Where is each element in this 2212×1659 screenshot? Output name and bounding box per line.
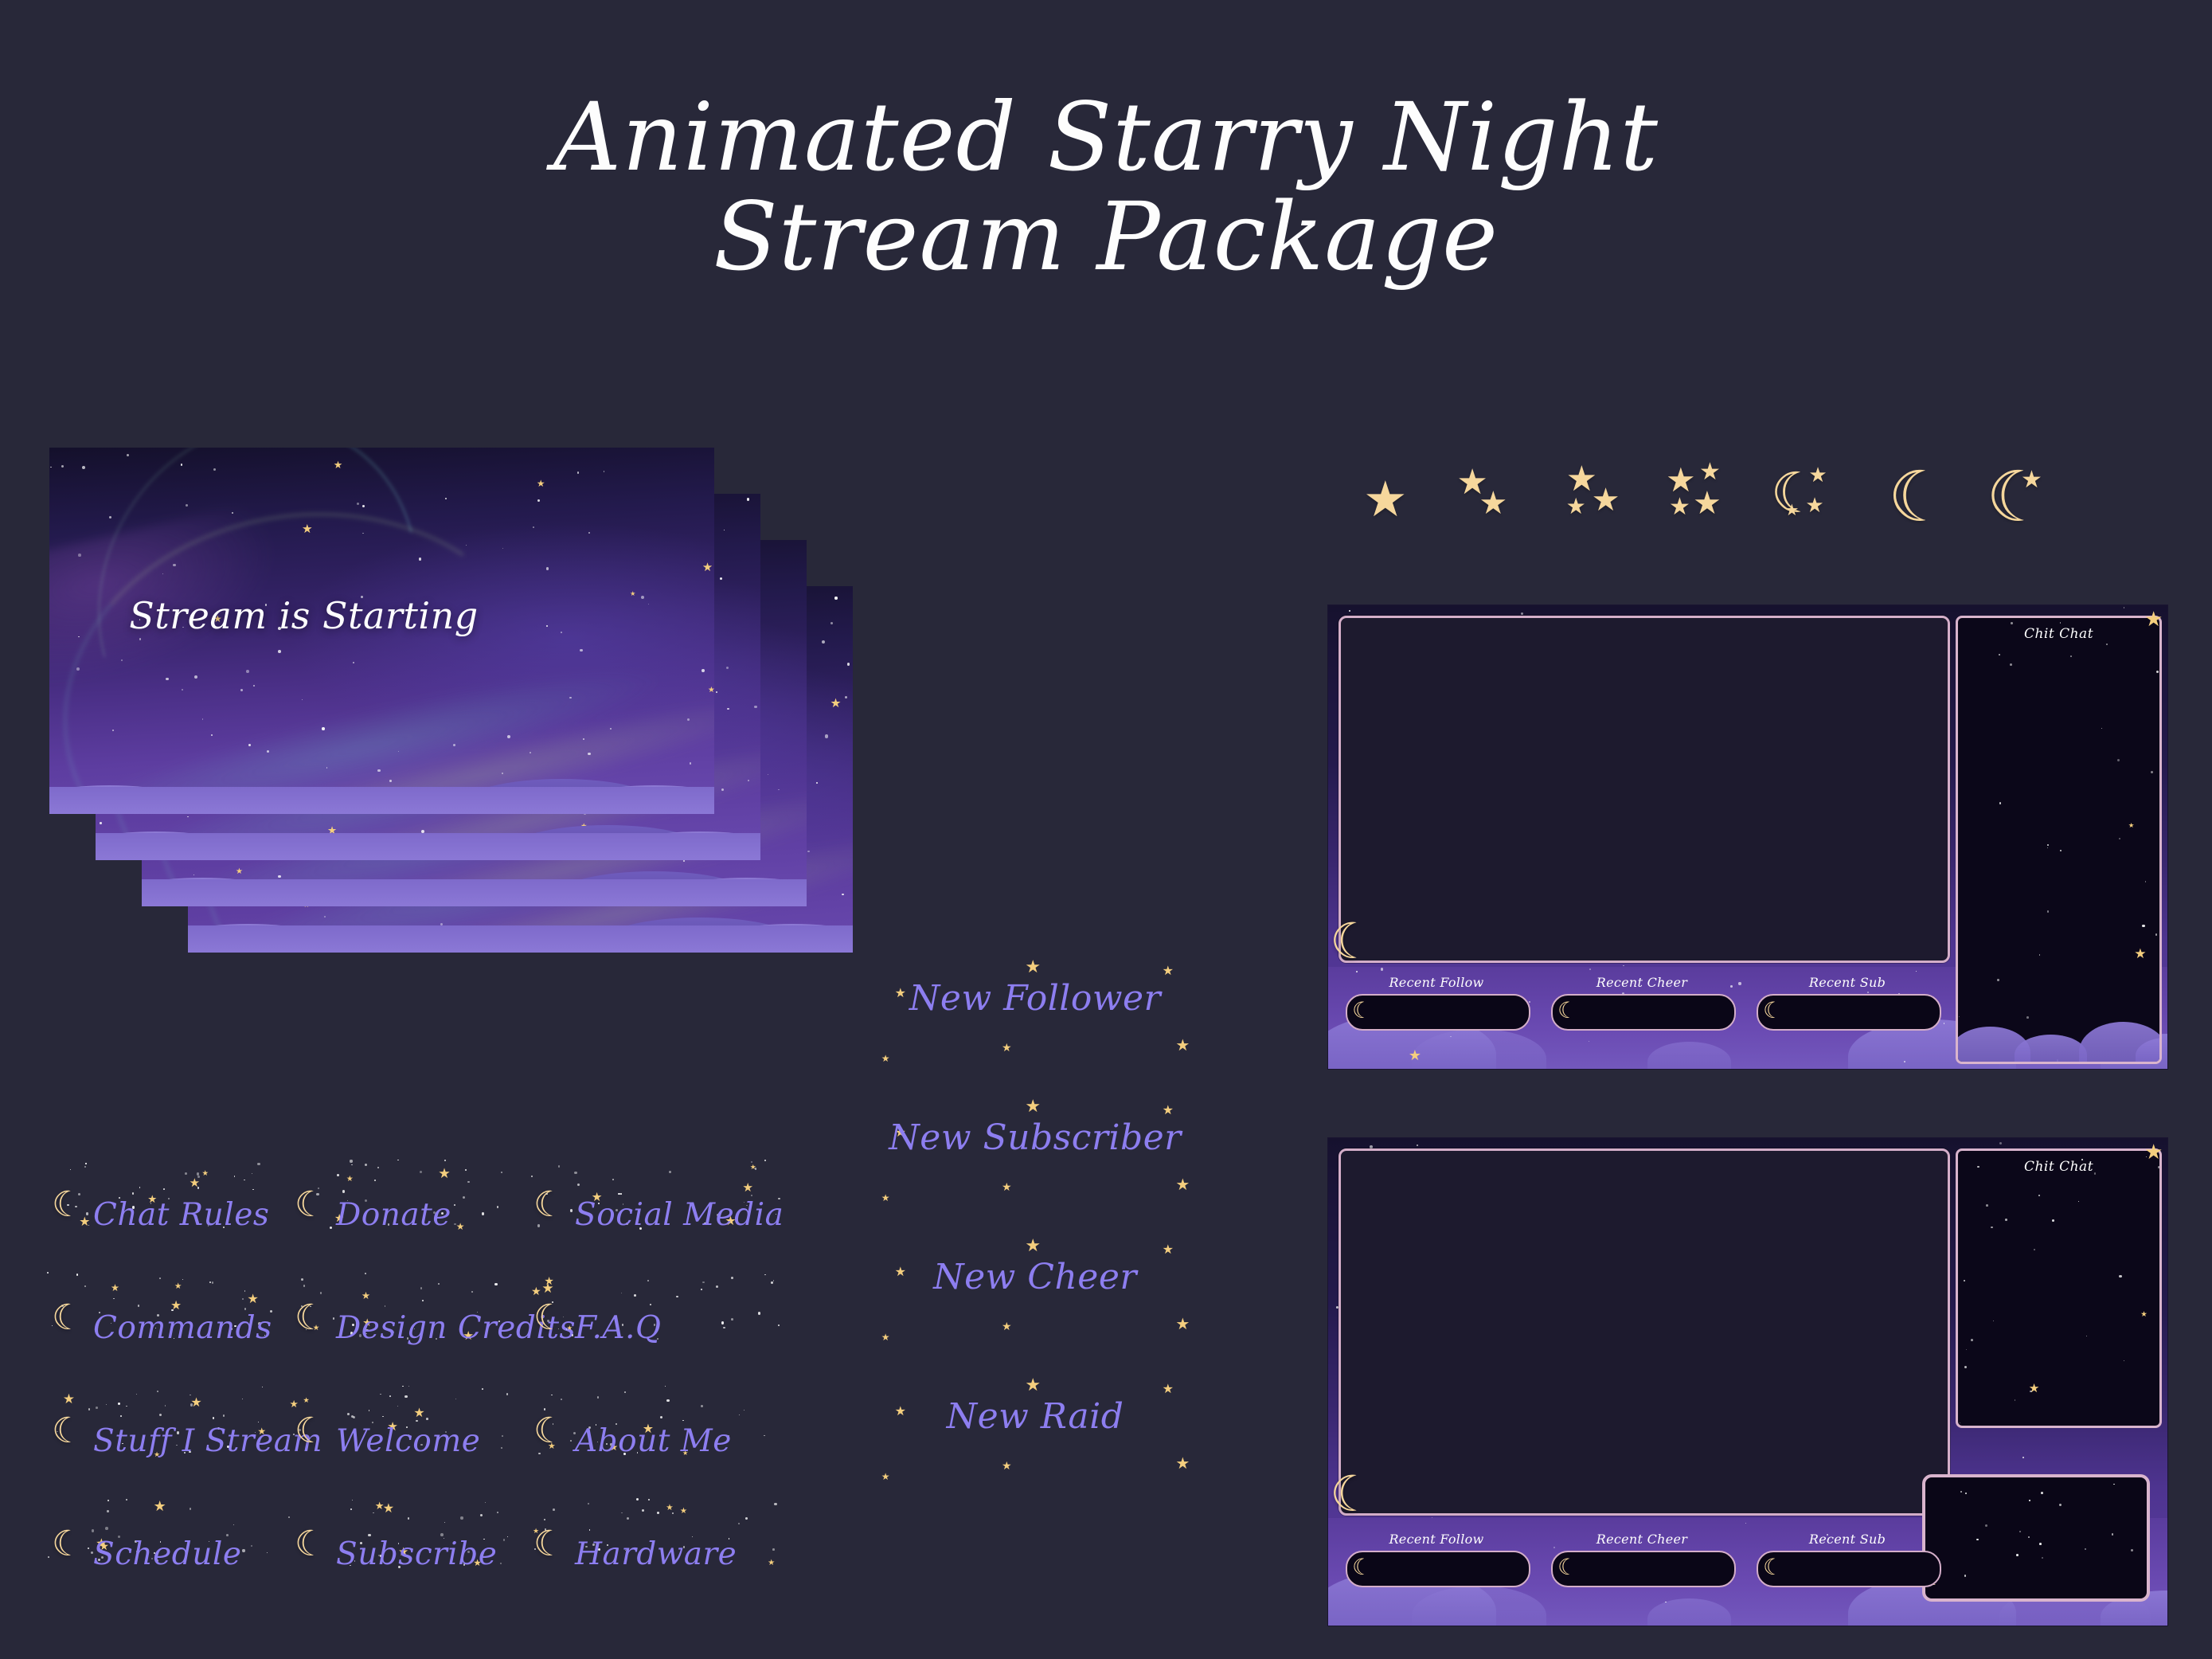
info-slot-label: Recent Follow <box>1346 975 1527 990</box>
star-dot <box>642 1509 645 1512</box>
star-dot <box>2010 663 2012 666</box>
star-dot <box>85 1163 86 1164</box>
star-dot <box>70 1169 71 1170</box>
moon-icon: ☾ <box>295 1527 326 1562</box>
info-slot-pill[interactable]: ☾ <box>1346 994 1530 1031</box>
star-dot <box>494 1283 497 1285</box>
star-dot <box>621 1512 623 1514</box>
star-dot <box>502 1435 503 1437</box>
chat-panel-label: Chit Chat <box>1958 1159 2159 1175</box>
star-dot <box>721 1321 725 1324</box>
star-dot <box>454 1223 456 1226</box>
star-dot <box>2038 1195 2040 1196</box>
alert-new-subscriber[interactable]: ★★★★★★New Subscriber <box>868 1095 1202 1234</box>
star-dot <box>676 1296 678 1297</box>
gold-star: ★ <box>383 1502 394 1515</box>
star-dot <box>234 1176 236 1177</box>
star-dot <box>163 1188 165 1190</box>
gold-star: ★ <box>750 1164 756 1172</box>
panel-label-text: Welcome <box>336 1423 480 1459</box>
star-dot <box>588 1503 589 1504</box>
star-dot <box>212 1281 214 1284</box>
moon-icon: ☾ <box>52 1301 83 1336</box>
star-dot <box>2145 881 2147 882</box>
star-dot <box>701 1405 703 1407</box>
moon-stars-emote[interactable]: ☾★★★ <box>1770 460 1850 536</box>
alert-label: New Cheer <box>868 1257 1202 1297</box>
star-dot <box>342 1190 345 1192</box>
star-dot <box>404 1395 407 1398</box>
star-dot <box>454 1204 455 1206</box>
star-dot <box>666 1399 669 1402</box>
panel-row: ★★★★☾Commands★★★★☾Design Credits★★★★☾F.A… <box>44 1272 808 1385</box>
star-dot <box>351 1164 353 1166</box>
star-dot <box>2015 1399 2015 1400</box>
panel-label-commands[interactable]: ★★★★☾Commands <box>44 1272 287 1385</box>
gold-star: ★ <box>438 1168 451 1181</box>
star-dot <box>132 1192 135 1195</box>
star-dot <box>333 1317 335 1320</box>
chat-corner-star: ★ <box>2144 609 2163 630</box>
info-slot-label: Recent Sub <box>1757 1532 1938 1547</box>
star-dot <box>665 1386 666 1387</box>
gold-star: ★ <box>567 1324 573 1331</box>
main-capture-area[interactable] <box>1339 616 1950 963</box>
star-dot <box>352 1500 353 1501</box>
star-dot <box>731 1277 733 1279</box>
star-dot <box>758 1312 761 1315</box>
star-dot <box>455 1399 457 1400</box>
chat-starfield: ★★ <box>1958 1151 2159 1426</box>
star-dot <box>538 1453 540 1454</box>
star-dot <box>303 1285 305 1286</box>
alert-star: ★ <box>881 1193 890 1203</box>
star-dot <box>126 1406 127 1407</box>
star-glyph: ★ <box>1566 495 1586 518</box>
gold-star: ★ <box>680 1508 687 1516</box>
gold-star: ★ <box>742 1182 753 1194</box>
star-dot <box>96 1407 98 1409</box>
moon-icon: ☾ <box>52 1188 83 1223</box>
star-dot <box>570 1209 573 1211</box>
panel-label-text: Chat Rules <box>93 1197 269 1233</box>
gold-star: ★ <box>768 1559 775 1567</box>
alert-star: ★ <box>1002 1461 1012 1472</box>
panel-label-hardware[interactable]: ★★★★☾Hardware <box>526 1498 796 1611</box>
panel-label-design-credits[interactable]: ★★★★☾Design Credits <box>287 1272 526 1385</box>
star-dot <box>744 1410 744 1411</box>
star-dot <box>485 1502 486 1503</box>
star-dot <box>380 1394 381 1395</box>
alert-star: ★ <box>881 1054 890 1063</box>
star-dot <box>350 1160 352 1162</box>
info-slot-label: Recent Cheer <box>1551 975 1733 990</box>
cloud-layer <box>49 645 714 814</box>
star-dot <box>138 1305 140 1307</box>
info-slot[interactable]: Recent Follow☾ <box>1346 975 1527 1031</box>
star-dot <box>723 1327 725 1329</box>
star-dot <box>574 1172 577 1175</box>
star-dot <box>553 1508 555 1511</box>
star-dot <box>764 1160 766 1161</box>
star-dot <box>772 1548 775 1551</box>
star-dot <box>731 1318 733 1321</box>
star-dot <box>2034 1249 2035 1250</box>
star-dot <box>257 1163 260 1165</box>
star-dot <box>369 1410 370 1411</box>
star-dot <box>213 1417 214 1418</box>
star-dot <box>2047 847 2048 848</box>
star-dot <box>422 1300 424 1301</box>
gold-star: ★ <box>346 1176 354 1184</box>
panel-row: ★★★★☾Stuff I Stream★★★★☾Welcome★★★★☾Abou… <box>44 1385 808 1498</box>
star-dot <box>2052 1219 2054 1222</box>
star-dot <box>497 1512 498 1513</box>
star-dot <box>251 1545 252 1547</box>
star-emote-single[interactable]: ★ <box>1346 460 1425 536</box>
star-dot <box>244 1180 244 1180</box>
star-dot <box>190 1395 190 1395</box>
star-dot <box>771 1281 772 1283</box>
star-dot <box>288 1516 290 1518</box>
star-dot <box>2039 954 2040 955</box>
moon-star-emote[interactable]: ☾★ <box>1983 460 2062 536</box>
info-slot-moon-icon: ☾ <box>1557 1556 1577 1579</box>
star-dot <box>506 1393 509 1395</box>
alert-star: ★ <box>1002 1182 1012 1193</box>
gold-star: ★ <box>111 1283 119 1293</box>
moon-icon: ☾ <box>52 1527 83 1562</box>
panel-label-welcome[interactable]: ★★★★☾Welcome <box>287 1385 526 1498</box>
panel-label-donate[interactable]: ★★★★☾Donate <box>287 1159 526 1272</box>
star-dot <box>755 1168 756 1169</box>
info-slot-pill[interactable]: ☾ <box>1757 994 1941 1031</box>
star-dot <box>408 1386 409 1387</box>
star-dot <box>572 1334 574 1336</box>
star-dot <box>2119 838 2120 839</box>
info-slot[interactable]: Recent Sub☾ <box>1757 975 1938 1031</box>
star-dot <box>397 1406 398 1407</box>
info-slot[interactable]: Recent Follow☾ <box>1346 1532 1527 1587</box>
panel-label-f-a-q[interactable]: ★★★★☾F.A.Q <box>526 1272 796 1385</box>
info-slot-moon-icon: ☾ <box>1763 1556 1783 1579</box>
star-dot <box>113 1298 115 1300</box>
star-dot <box>165 1405 166 1406</box>
alert-starfield: ★★★★★★ <box>868 956 1202 1095</box>
star-dot <box>2047 844 2049 846</box>
star-dot <box>577 1184 580 1186</box>
star-dot <box>1999 654 2000 655</box>
info-slot-moon-icon: ☾ <box>1763 1000 1783 1022</box>
gold-star: ★ <box>290 1399 299 1410</box>
star-dot <box>377 1167 379 1168</box>
alert-star: ★ <box>1025 959 1041 976</box>
info-slot-pill[interactable]: ☾ <box>1757 1551 1941 1587</box>
star-dot <box>2047 910 2050 913</box>
star-dot <box>86 1212 88 1215</box>
moon-icon: ☾ <box>533 1301 565 1336</box>
star-dot <box>84 1285 87 1288</box>
alert-new-cheer[interactable]: ★★★★★★New Cheer <box>868 1234 1202 1374</box>
star-glyph: ★ <box>1808 465 1827 486</box>
starting-screen-stack: ★★★★★★★★★★★★★★★★★★★★★★★★★★★★★★★★Stream i… <box>49 448 862 1093</box>
star-dot <box>389 1395 391 1397</box>
star-dot <box>438 1283 440 1285</box>
star-dot <box>507 1536 508 1537</box>
star-dot <box>1999 1142 2002 1144</box>
star-dot <box>420 1171 422 1173</box>
star-dot <box>88 1547 89 1549</box>
star-dot <box>2106 644 2107 644</box>
star-dot <box>682 1420 683 1421</box>
star-dot <box>2142 925 2144 927</box>
star-dot <box>2070 655 2072 657</box>
star-dot <box>426 1418 428 1420</box>
star-dot <box>739 1414 740 1415</box>
star-dot <box>1999 802 2001 804</box>
star-dot <box>190 1508 191 1509</box>
star-dot <box>627 1517 629 1520</box>
panel-row: ★★★★☾Schedule★★★★☾Subscribe★★★★☾Hardware <box>44 1498 808 1611</box>
alert-star: ★ <box>1175 1455 1190 1471</box>
star-emote-triple[interactable]: ★★★ <box>1558 460 1638 536</box>
info-slot-pill[interactable]: ☾ <box>1551 994 1736 1031</box>
alert-star: ★ <box>1163 1383 1174 1395</box>
star-dot <box>669 1171 671 1173</box>
star-dot <box>444 1522 445 1523</box>
info-slot-pill[interactable]: ☾ <box>1346 1551 1530 1587</box>
panel-label-subscribe[interactable]: ★★★★☾Subscribe <box>287 1498 526 1611</box>
star-dot <box>2060 622 2062 624</box>
gold-star: ★ <box>174 1282 182 1290</box>
moon-icon: ☾ <box>295 1414 326 1449</box>
star-dot <box>561 1399 562 1400</box>
star-dot <box>242 1298 244 1300</box>
alert-starfield: ★★★★★★ <box>868 1095 1202 1234</box>
star-dot <box>159 1278 161 1279</box>
star-dot <box>657 1512 659 1514</box>
panel-label-text: F.A.Q <box>575 1310 661 1346</box>
alert-star: ★ <box>1025 1238 1041 1255</box>
star-glyph: ★ <box>1699 460 1721 484</box>
cloud-base <box>142 879 807 906</box>
star-dot <box>2030 1391 2032 1393</box>
star-dot <box>126 1499 127 1501</box>
star-dot <box>301 1278 303 1281</box>
star-dot <box>353 1416 355 1418</box>
panel-label-text: Social Media <box>575 1197 784 1233</box>
panel-label-stuff-i-stream[interactable]: ★★★★☾Stuff I Stream <box>44 1385 287 1498</box>
panel-label-chat-rules[interactable]: ★★★★☾Chat Rules <box>44 1159 287 1272</box>
star-dot <box>774 1503 776 1505</box>
star-dot <box>397 1160 398 1160</box>
info-slot-moon-icon: ☾ <box>1557 1000 1577 1022</box>
alert-new-follower[interactable]: ★★★★★★New Follower <box>868 956 1202 1095</box>
alert-star: ★ <box>1175 1037 1190 1053</box>
star-dot <box>2059 1504 2062 1506</box>
star-dot <box>120 1415 122 1417</box>
star-dot <box>1985 1524 1987 1527</box>
alert-star: ★ <box>1025 1377 1041 1395</box>
cloud-base <box>49 787 714 814</box>
star-dot <box>716 1285 718 1288</box>
star-dot <box>1991 1227 1992 1228</box>
alert-star: ★ <box>1163 1104 1174 1117</box>
star-dot <box>1960 1422 1960 1423</box>
panel-label-text: Commands <box>93 1310 272 1346</box>
alert-label: New Follower <box>868 978 1202 1019</box>
gold-star: ★ <box>190 1396 201 1409</box>
star-dot <box>2005 1219 2007 1221</box>
stream-starting-title: Stream is Starting <box>129 594 479 637</box>
info-slots: Recent Follow☾Recent Cheer☾Recent Sub☾ <box>1328 1532 2167 1611</box>
star-dot <box>2156 671 2159 673</box>
star-dot <box>597 1396 599 1398</box>
star-glyph: ★ <box>1693 487 1722 519</box>
star-dot <box>136 1394 137 1395</box>
star-dot <box>1971 1339 1973 1341</box>
star-dot <box>337 1174 339 1176</box>
gold-star: ★ <box>541 1282 553 1296</box>
chat-corner-star: ★ <box>2144 1142 2163 1163</box>
star-dot <box>373 1512 374 1514</box>
info-slot-pill[interactable]: ☾ <box>1551 1551 1736 1587</box>
star-dot <box>650 1304 651 1305</box>
star-emote-double[interactable]: ★★ <box>1452 460 1531 536</box>
star-dot <box>589 1529 591 1531</box>
chat-panel[interactable]: ★★Chit Chat <box>1956 1148 2162 1428</box>
star-dot <box>365 1164 367 1166</box>
star-dot <box>2060 850 2062 852</box>
star-dot <box>267 1552 268 1553</box>
alert-new-raid[interactable]: ★★★★★★New Raid <box>868 1374 1202 1513</box>
star-dot <box>2155 933 2158 936</box>
star-dot <box>551 1395 553 1396</box>
star-dot <box>1986 1204 1988 1207</box>
star-dot <box>2029 1500 2030 1501</box>
star-dot <box>185 1172 187 1175</box>
star-dot <box>648 1499 650 1501</box>
overlay-with-webcam: ★★★★★★☾★★Chit Chat★☾Recent Follow☾Recent… <box>1327 1137 2168 1626</box>
poster-root: Animated Starry Night Stream Package ★★★… <box>0 0 2212 1659</box>
star-dot <box>647 1280 649 1281</box>
star-glyph: ★ <box>1592 484 1620 516</box>
gold-star: ★ <box>375 1501 385 1512</box>
star-dot <box>105 1527 108 1530</box>
info-slot[interactable]: Recent Cheer☾ <box>1551 1532 1733 1587</box>
star-dot <box>107 1500 110 1502</box>
alert-star: ★ <box>1175 1176 1190 1192</box>
star-dot <box>159 1414 162 1416</box>
star-dot <box>764 1435 764 1436</box>
alert-starfield: ★★★★★★ <box>868 1234 1202 1374</box>
star-dot <box>624 1391 626 1393</box>
star-dot <box>2113 1484 2114 1485</box>
star-dot <box>501 1172 502 1173</box>
star-dot <box>1964 1280 1965 1281</box>
star-dot <box>465 1169 467 1171</box>
star-dot <box>242 1399 243 1399</box>
alert-star: ★ <box>1163 964 1174 977</box>
moon-icon: ☾ <box>295 1188 326 1223</box>
panel-label-text: Schedule <box>93 1536 241 1572</box>
star-dot <box>1993 1321 1994 1321</box>
gold-star: ★ <box>413 1407 424 1419</box>
panel-label-schedule[interactable]: ★★★★☾Schedule <box>44 1498 287 1611</box>
alert-star: ★ <box>1175 1316 1190 1332</box>
star-dot <box>2041 1492 2043 1494</box>
panel-label-social-media[interactable]: ★★★★☾Social Media <box>526 1159 796 1272</box>
star-dot <box>233 1524 234 1525</box>
panel-label-grid: ★★★★☾Chat Rules★★★★☾Donate★★★★☾Social Me… <box>44 1159 808 1611</box>
gold-star: ★ <box>2134 948 2146 961</box>
star-dot <box>84 1166 86 1168</box>
panel-label-about-me[interactable]: ★★★★☾About Me <box>526 1385 796 1498</box>
panel-label-text: Subscribe <box>336 1536 497 1572</box>
star-dot <box>2124 607 2125 608</box>
moon-icon: ☾ <box>533 1414 565 1449</box>
star-dot <box>660 1416 663 1419</box>
info-slot[interactable]: Recent Sub☾ <box>1757 1532 1938 1587</box>
star-dot <box>1417 1144 1418 1146</box>
alert-star: ★ <box>1163 1243 1174 1256</box>
panel-row: ★★★★☾Chat Rules★★★★☾Donate★★★★☾Social Me… <box>44 1159 808 1272</box>
star-dot <box>118 1403 119 1404</box>
star-dot <box>558 1165 560 1167</box>
corner-moon-icon: ☾ <box>1330 1469 1374 1519</box>
star-dot <box>2086 1336 2087 1336</box>
star-dot <box>2101 728 2102 729</box>
star-dot <box>2151 771 2153 773</box>
info-slot[interactable]: Recent Cheer☾ <box>1551 975 1733 1031</box>
star-dot <box>467 1181 470 1184</box>
crescent-moon-emote[interactable]: ☾ <box>1877 460 1956 536</box>
star-dot <box>503 1539 505 1540</box>
star-dot <box>223 1414 225 1417</box>
star-dot <box>751 1161 752 1163</box>
alert-label: New Raid <box>868 1396 1202 1437</box>
star-dot <box>402 1386 403 1387</box>
star-dot <box>262 1387 263 1387</box>
star-dot <box>500 1563 502 1564</box>
star-dot <box>751 1195 752 1196</box>
star-dot <box>460 1516 463 1519</box>
star-dot <box>106 1404 107 1405</box>
star-dot <box>107 1510 109 1512</box>
star-dot <box>197 1176 200 1178</box>
gold-star: ★ <box>544 1277 553 1288</box>
star-dot <box>701 1289 702 1290</box>
alert-list: ★★★★★★New Follower★★★★★★New Subscriber★★… <box>868 956 1202 1513</box>
star-dot <box>244 1290 245 1291</box>
star-dot <box>190 1403 193 1406</box>
star-dot <box>1960 1491 1962 1493</box>
gold-star: ★ <box>666 1504 673 1512</box>
star-dot <box>252 1173 252 1174</box>
star-dot <box>1349 610 1350 612</box>
star-glyph: ★ <box>1479 487 1507 519</box>
moon-glyph: ☾ <box>1888 462 1951 532</box>
main-capture-area[interactable] <box>1339 1148 1950 1516</box>
alert-starfield: ★★★★★★ <box>868 1374 1202 1513</box>
star-dot <box>612 1179 614 1180</box>
star-dot <box>76 1274 78 1275</box>
gold-star: ★ <box>154 1500 166 1514</box>
star-dot <box>634 1294 636 1297</box>
star-emote-quad[interactable]: ★★★★ <box>1664 460 1744 536</box>
alert-star: ★ <box>881 1332 890 1342</box>
overlay-standard: ★★★★★★☾★★Chit Chat★Recent Follow☾Recent … <box>1327 605 2168 1070</box>
